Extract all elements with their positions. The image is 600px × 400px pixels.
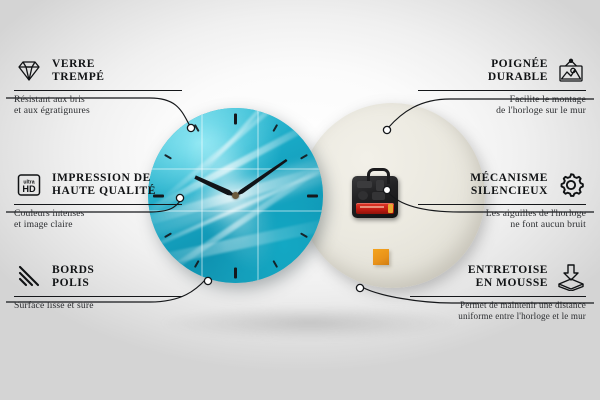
callout-rule bbox=[418, 204, 586, 205]
hour-marker-12 bbox=[234, 113, 237, 124]
callout-bords-polis[interactable]: BORDS POLIS Surface lisse et sûre bbox=[14, 262, 182, 311]
svg-text:HD: HD bbox=[22, 184, 36, 194]
callout-poignee-durable[interactable]: POIGNÉE DURABLE Facilite le montage de l… bbox=[418, 56, 586, 117]
callout-rule bbox=[14, 204, 182, 205]
callout-title-line1: BORDS bbox=[52, 264, 94, 276]
infographic-stage: VERRE TREMPÉ Résistant aux bris et aux é… bbox=[0, 0, 600, 400]
callout-title-line2: DURABLE bbox=[488, 71, 548, 83]
callout-verre-trempe[interactable]: VERRE TREMPÉ Résistant aux bris et aux é… bbox=[14, 56, 182, 117]
callout-title-line2: HAUTE QUALITÉ bbox=[52, 185, 156, 197]
hour-marker-3 bbox=[307, 194, 318, 197]
callout-title-line1: IMPRESSION DE bbox=[52, 172, 151, 184]
callout-title-line1: MÉCANISME bbox=[470, 172, 548, 184]
callout-title-line2: EN MOUSSE bbox=[476, 277, 548, 289]
callout-title-line2: POLIS bbox=[52, 277, 89, 289]
gear-icon bbox=[556, 170, 586, 200]
mechanism-detail bbox=[372, 192, 385, 200]
hands-center-cap bbox=[232, 192, 239, 199]
callout-title-line1: VERRE bbox=[52, 58, 95, 70]
battery-positive-tip bbox=[388, 204, 393, 213]
foam-spacer-icon bbox=[556, 262, 586, 292]
callout-rule bbox=[418, 90, 586, 91]
callout-title-line2: TREMPÉ bbox=[52, 71, 105, 83]
clock-mechanism bbox=[352, 176, 398, 218]
mechanism-detail bbox=[357, 181, 372, 188]
callout-impression-haute-qualite[interactable]: ultra HD IMPRESSION DE HAUTE QUALITÉ Cou… bbox=[14, 170, 182, 231]
diamond-icon bbox=[14, 56, 44, 86]
mechanism-detail bbox=[376, 180, 384, 191]
callout-entretoise-en-mousse[interactable]: ENTRETOISE EN MOUSSE Permet de maintenir… bbox=[410, 262, 586, 323]
callout-subtitle-line1: Résistant aux bris bbox=[14, 94, 85, 105]
picture-hanger-icon bbox=[556, 56, 586, 86]
ultra-hd-icon: ultra HD bbox=[14, 170, 44, 200]
battery bbox=[356, 203, 394, 214]
callout-rule bbox=[14, 296, 182, 297]
callout-title-line2: SILENCIEUX bbox=[471, 185, 548, 197]
callout-rule bbox=[410, 296, 586, 297]
callout-mecanisme-silencieux[interactable]: MÉCANISME SILENCIEUX Les aiguilles de l'… bbox=[418, 170, 586, 231]
callout-subtitle-line1: Surface lisse et sûre bbox=[14, 300, 94, 311]
callout-subtitle-line2: et aux égratignures bbox=[14, 105, 90, 116]
callout-title-line1: ENTRETOISE bbox=[468, 264, 548, 276]
callout-subtitle-line1: Facilite le montage bbox=[510, 94, 586, 105]
callout-subtitle-line2: ne font aucun bruit bbox=[510, 219, 586, 230]
callout-subtitle-line1: Permet de maintenir une distance bbox=[460, 300, 586, 310]
callout-rule bbox=[14, 90, 182, 91]
battery-label-stripe bbox=[360, 206, 384, 208]
polished-edge-icon bbox=[14, 262, 44, 292]
callout-subtitle-line2: uniforme entre l'horloge et le mur bbox=[458, 311, 586, 321]
callout-subtitle-line2: et image claire bbox=[14, 219, 73, 230]
hour-marker-6 bbox=[234, 267, 237, 278]
callout-title-line1: POIGNÉE bbox=[491, 58, 548, 70]
mechanism-detail bbox=[358, 191, 368, 200]
callout-subtitle-line1: Les aiguilles de l'horloge bbox=[486, 208, 586, 219]
foam-spacer bbox=[373, 249, 389, 265]
callout-subtitle-line2: de l'horloge sur le mur bbox=[496, 105, 586, 116]
callout-subtitle-line1: Couleurs intenses bbox=[14, 208, 85, 219]
